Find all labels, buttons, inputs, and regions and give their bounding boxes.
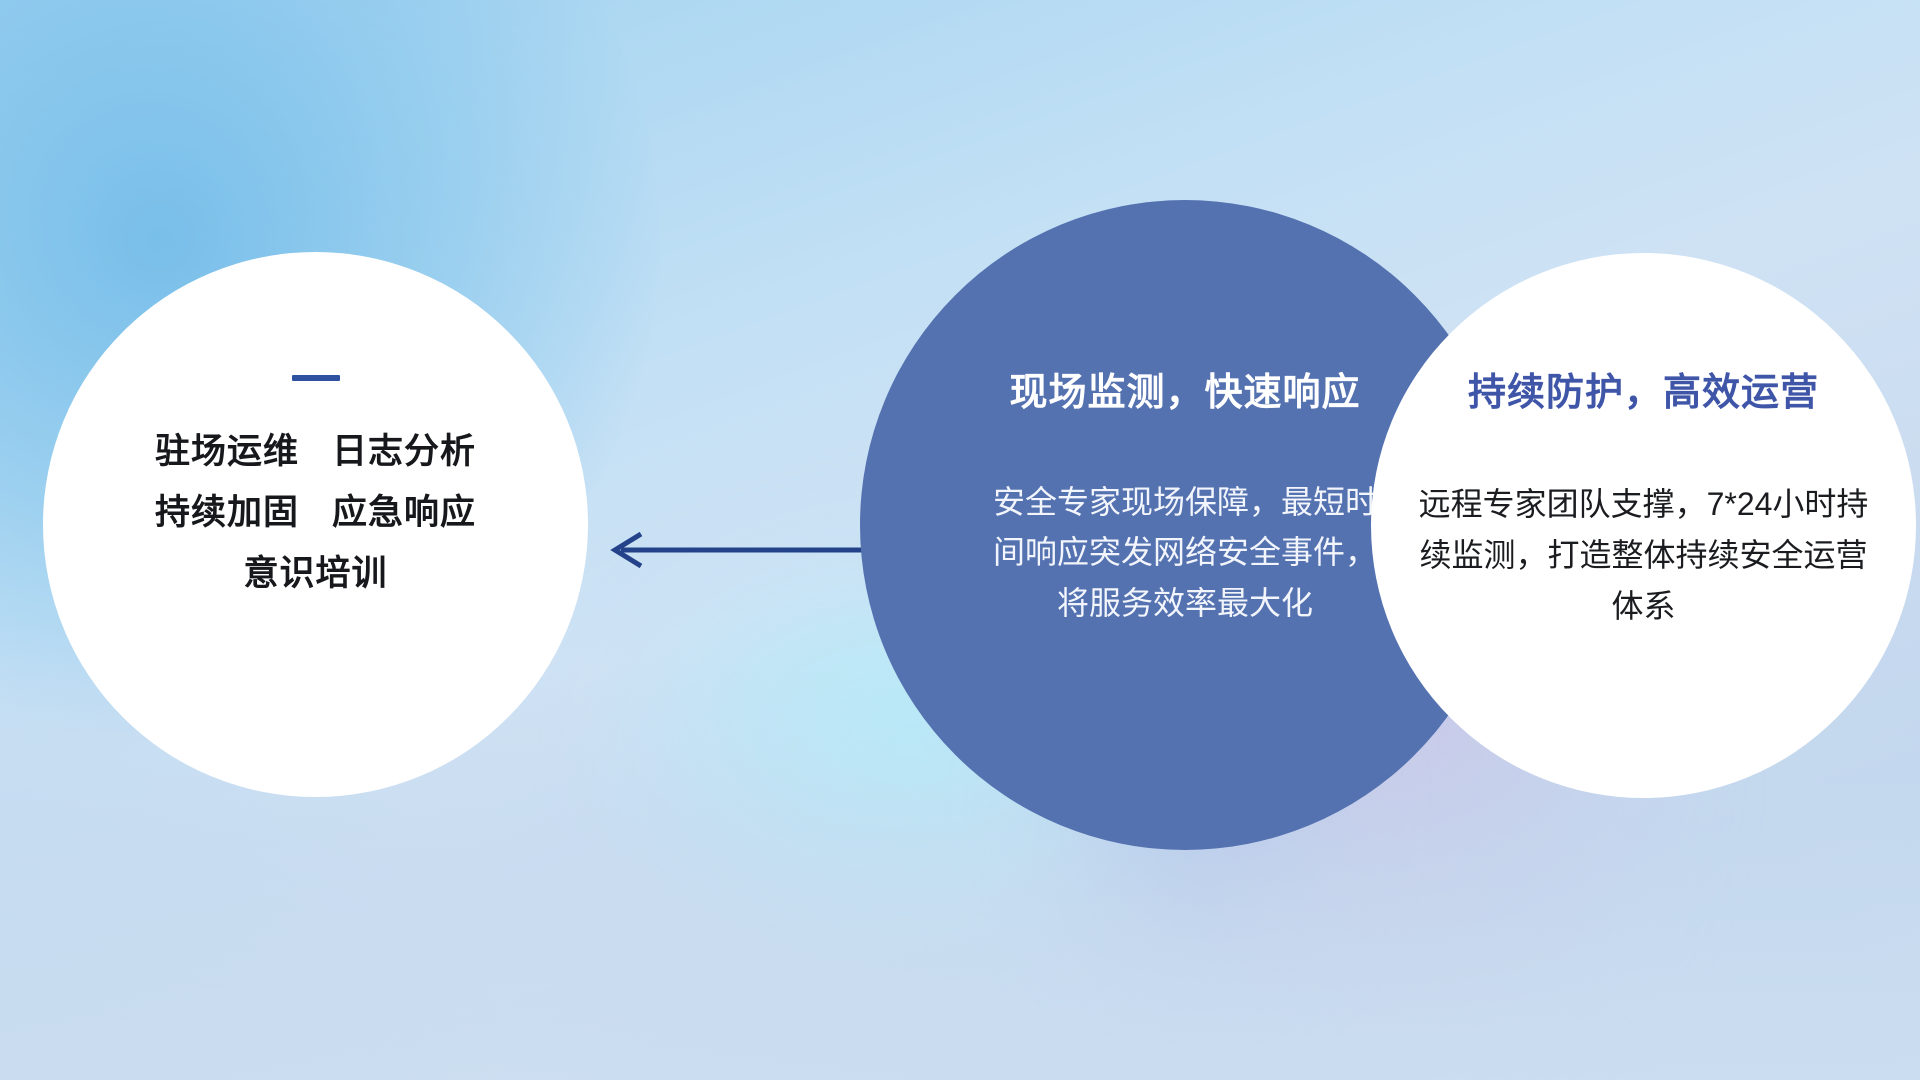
- right-circle-content: 持续防护，高效运营 远程专家团队支撑，7*24小时持续监测，打造整体持续安全运营…: [1409, 373, 1879, 632]
- middle-card-title: 现场监测，快速响应: [1009, 373, 1360, 415]
- horizontal-dash-icon: [292, 375, 340, 381]
- capability-label-grid: 驻场运维 日志分析 持续加固 应急响应 意识培训: [155, 434, 476, 592]
- arrow-left-icon: [595, 520, 885, 580]
- middle-circle-content: 现场监测，快速响应 安全专家现场保障，最短时间响应突发网络安全事件，将服务效率最…: [950, 373, 1420, 628]
- capability-label: 应急响应: [332, 495, 476, 532]
- capability-circle-left: 驻场运维 日志分析 持续加固 应急响应 意识培训: [43, 252, 588, 797]
- capability-row: 驻场运维 日志分析: [155, 434, 476, 471]
- diagram-canvas: 驻场运维 日志分析 持续加固 应急响应 意识培训 现场监测，快速响应 安全专家现…: [0, 0, 1920, 1080]
- capability-row: 意识培训: [243, 556, 387, 593]
- right-card-body: 远程专家团队支撑，7*24小时持续监测，打造整体持续安全运营体系: [1418, 479, 1870, 633]
- capability-label: 持续加固: [155, 495, 299, 532]
- capability-label: 日志分析: [332, 434, 476, 471]
- capability-label: 驻场运维: [155, 434, 299, 471]
- right-card-title: 持续防护，高效运营: [1468, 373, 1819, 415]
- capability-label: 意识培训: [243, 556, 387, 593]
- left-circle-content: 驻场运维 日志分析 持续加固 应急响应 意识培训: [43, 375, 588, 592]
- middle-card-body: 安全专家现场保障，最短时间响应突发网络安全事件，将服务效率最大化: [989, 477, 1381, 629]
- capability-row: 持续加固 应急响应: [155, 495, 476, 532]
- capability-circle-right: 持续防护，高效运营 远程专家团队支撑，7*24小时持续监测，打造整体持续安全运营…: [1371, 253, 1916, 798]
